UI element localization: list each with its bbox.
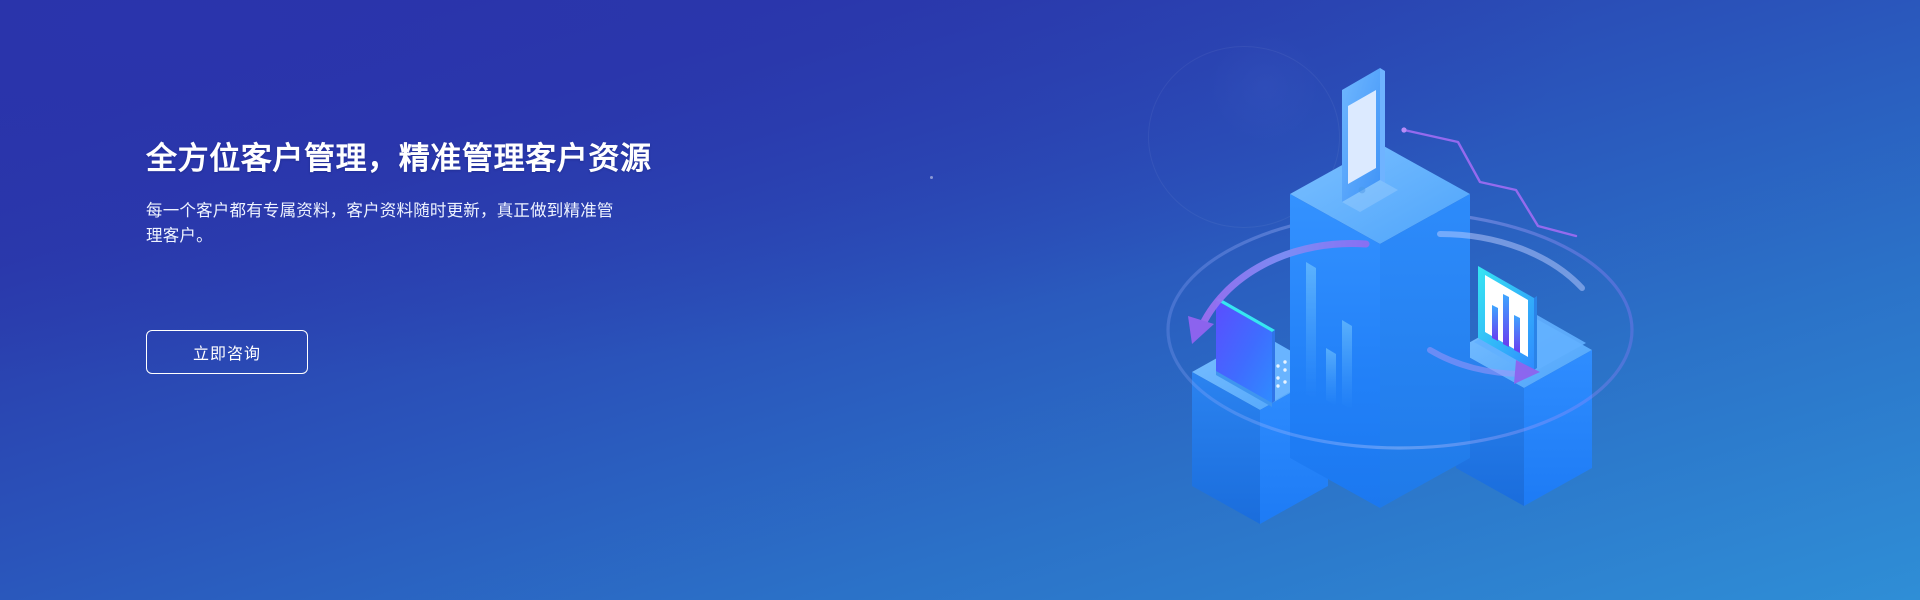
page-title: 全方位客户管理，精准管理客户资源 — [146, 140, 766, 179]
hero-text-block: 全方位客户管理，精准管理客户资源 每一个客户都有专属资料，客户资料随时更新，真正… — [146, 140, 766, 250]
tablet-device — [1342, 68, 1398, 212]
hero-subtitle: 每一个客户都有专属资料，客户资料随时更新，真正做到精准管理客户。 — [146, 199, 626, 250]
background-sparkle — [930, 176, 933, 179]
isometric-data-platform-illustration — [1130, 30, 1670, 570]
consult-now-button[interactable]: 立即咨询 — [146, 330, 308, 374]
hero-banner: 全方位客户管理，精准管理客户资源 每一个客户都有专属资料，客户资料随时更新，真正… — [0, 0, 1920, 600]
